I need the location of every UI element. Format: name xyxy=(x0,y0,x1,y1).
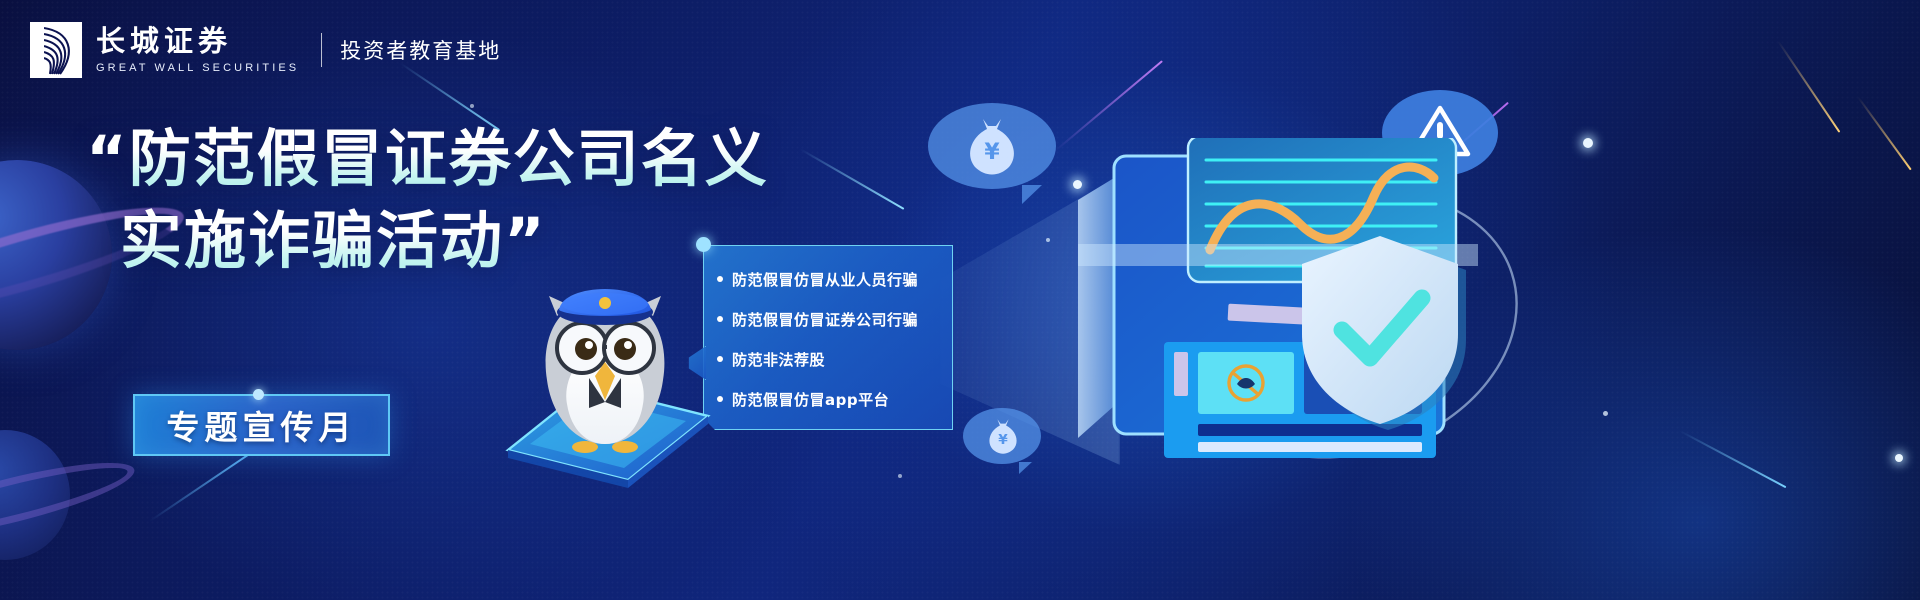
bullet-panel: 防范假冒仿冒从业人员行骗 防范假冒仿冒证券公司行骗 防范非法荐股 防范假冒仿冒a… xyxy=(703,245,953,430)
list-item: 防范假冒仿冒证券公司行骗 xyxy=(717,299,953,339)
brand-name-en: GREAT WALL SECURITIES xyxy=(96,62,299,74)
comet-icon xyxy=(149,447,258,521)
bullet-dot-icon xyxy=(717,396,723,402)
money-symbol: ¥ xyxy=(984,140,1000,165)
bullet-label: 防范假冒仿冒证券公司行骗 xyxy=(732,309,918,330)
campaign-badge[interactable]: 专题宣传月 xyxy=(133,394,390,456)
owl-police-mascot-icon xyxy=(519,258,694,458)
money-bag-speech-bubble-small-icon: ¥ xyxy=(963,408,1041,464)
comet-icon xyxy=(1857,96,1912,170)
list-item: 防范假冒仿冒从业人员行骗 xyxy=(717,259,953,299)
bullet-label: 防范假冒仿冒从业人员行骗 xyxy=(732,269,918,290)
star-icon xyxy=(1583,138,1593,148)
star-icon xyxy=(898,474,902,478)
svg-text:¥: ¥ xyxy=(998,432,1008,448)
list-item: 防范假冒仿冒app平台 xyxy=(717,379,953,419)
brand-logo[interactable]: 长城证券 GREAT WALL SECURITIES 投资者教育基地 xyxy=(30,22,501,78)
comet-icon xyxy=(1777,40,1840,132)
bullet-list: 防范假冒仿冒从业人员行骗 防范假冒仿冒证券公司行骗 防范非法荐股 防范假冒仿冒a… xyxy=(703,245,953,419)
money-bag-speech-bubble-icon: ¥ xyxy=(928,103,1056,189)
brand-sub-label: 投资者教育基地 xyxy=(340,35,501,65)
list-item: 防范非法荐股 xyxy=(717,339,953,379)
bullet-dot-icon xyxy=(717,316,723,322)
comet-icon xyxy=(1680,430,1787,488)
bullet-label: 防范假冒仿冒app平台 xyxy=(732,389,889,410)
comet-icon xyxy=(800,148,905,210)
badge-dot-icon xyxy=(253,389,264,400)
star-icon xyxy=(470,104,474,108)
great-wall-logo-icon xyxy=(30,22,82,78)
bullet-dot-icon xyxy=(717,356,723,362)
campaign-badge-label: 专题宣传月 xyxy=(167,401,357,449)
brand-name-cn: 长城证券 xyxy=(96,26,299,56)
headline-line-1: “防范假冒证券公司名义 xyxy=(86,118,769,200)
shield-check-icon xyxy=(1290,230,1470,430)
bullet-label: 防范非法荐股 xyxy=(732,349,825,370)
logo-divider xyxy=(321,33,322,67)
star-icon xyxy=(1895,454,1903,462)
star-icon xyxy=(1603,411,1608,416)
promo-banner: 长城证券 GREAT WALL SECURITIES 投资者教育基地 “防范假冒… xyxy=(0,0,1920,600)
bullet-dot-icon xyxy=(717,276,723,282)
